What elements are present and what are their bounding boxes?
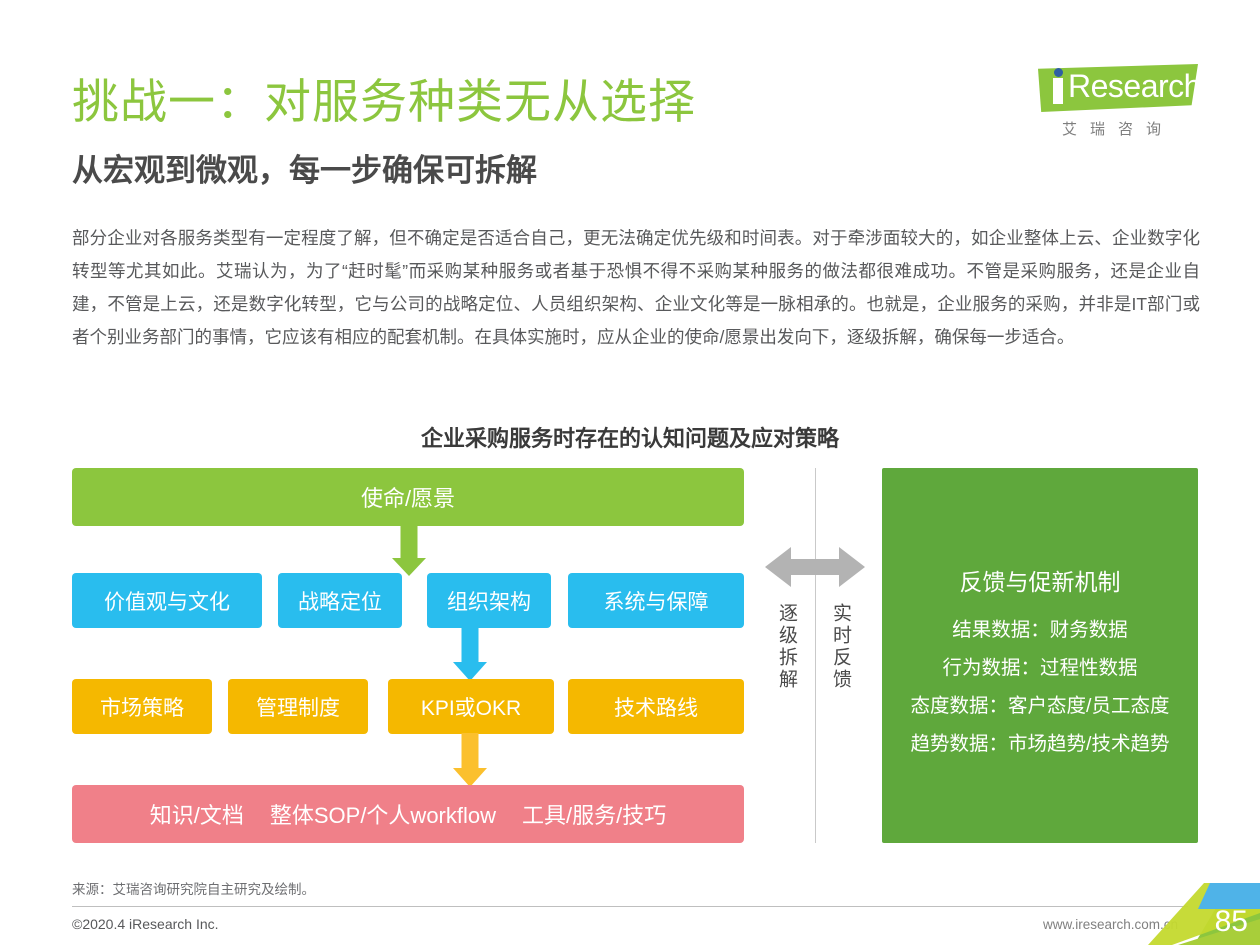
diagram-box-org-structure: 组织架构 (427, 573, 551, 628)
vertical-divider (815, 468, 816, 843)
arrow-down-yellow-icon (453, 733, 487, 787)
strategy-cascade-diagram: 使命/愿景 价值观与文化 战略定位 组织架构 系统与保障 市场策略 管理制度 K… (0, 455, 1260, 855)
arrow-bidirectional-icon (765, 545, 865, 589)
chart-title: 企业采购服务时存在的认知问题及应对策略 (0, 421, 1260, 453)
feedback-panel-line-behavior: 行为数据：过程性数据 (942, 649, 1137, 687)
assets-item-knowledge: 知识/文档 (150, 798, 244, 830)
logo-wordmark: Research (1068, 69, 1201, 103)
feedback-panel-line-trend: 趋势数据：市场趋势/技术趋势 (911, 725, 1170, 763)
diagram-box-mission: 使命/愿景 (72, 468, 744, 526)
diagram-box-tech-roadmap: 技术路线 (568, 679, 744, 734)
feedback-panel-title: 反馈与促新机制 (960, 563, 1121, 597)
axis-label-decompose: 逐级拆解 (773, 603, 800, 691)
diagram-box-kpi-okr: KPI或OKR (388, 679, 554, 734)
assets-item-sop: 整体SOP/个人workflow (270, 798, 496, 830)
iresearch-logo: Research 艾瑞咨询 (1038, 60, 1198, 145)
feedback-panel-line-attitude: 态度数据：客户态度/员工态度 (911, 687, 1170, 725)
page-number: 85 (1215, 905, 1248, 939)
logo-dot-icon (1054, 68, 1063, 77)
diagram-box-systems-guarantee: 系统与保障 (568, 573, 744, 628)
feedback-panel-line-result: 结果数据：财务数据 (952, 611, 1128, 649)
logo-chinese-name: 艾瑞咨询 (1042, 118, 1194, 139)
footer-divider (72, 906, 1188, 907)
feedback-mechanism-panel: 反馈与促新机制 结果数据：财务数据 行为数据：过程性数据 态度数据：客户态度/员… (882, 468, 1198, 843)
diagram-box-strategic-positioning: 战略定位 (278, 573, 402, 628)
page-title: 挑战一：对服务种类无从选择 (72, 63, 696, 132)
assets-item-tools: 工具/服务/技巧 (522, 798, 666, 830)
arrow-down-blue-icon (453, 627, 487, 681)
page-subtitle: 从宏观到微观，每一步确保可拆解 (72, 145, 537, 190)
body-paragraph: 部分企业对各服务类型有一定程度了解，但不确定是否适合自己，更无法确定优先级和时间… (72, 222, 1200, 354)
diagram-box-assets: 知识/文档 整体SOP/个人workflow 工具/服务/技巧 (72, 785, 744, 843)
logo-mark: Research (1038, 60, 1198, 112)
footer-copyright: ©2020.4 iResearch Inc. (72, 916, 219, 932)
arrow-down-green-icon (392, 525, 426, 575)
diagram-box-market-strategy: 市场策略 (72, 679, 212, 734)
logo-letter-i (1053, 78, 1063, 104)
axis-label-feedback: 实时反馈 (827, 603, 854, 691)
source-note: 来源：艾瑞咨询研究院自主研究及绘制。 (72, 878, 315, 898)
diagram-box-values-culture: 价值观与文化 (72, 573, 262, 628)
diagram-box-management-system: 管理制度 (228, 679, 368, 734)
